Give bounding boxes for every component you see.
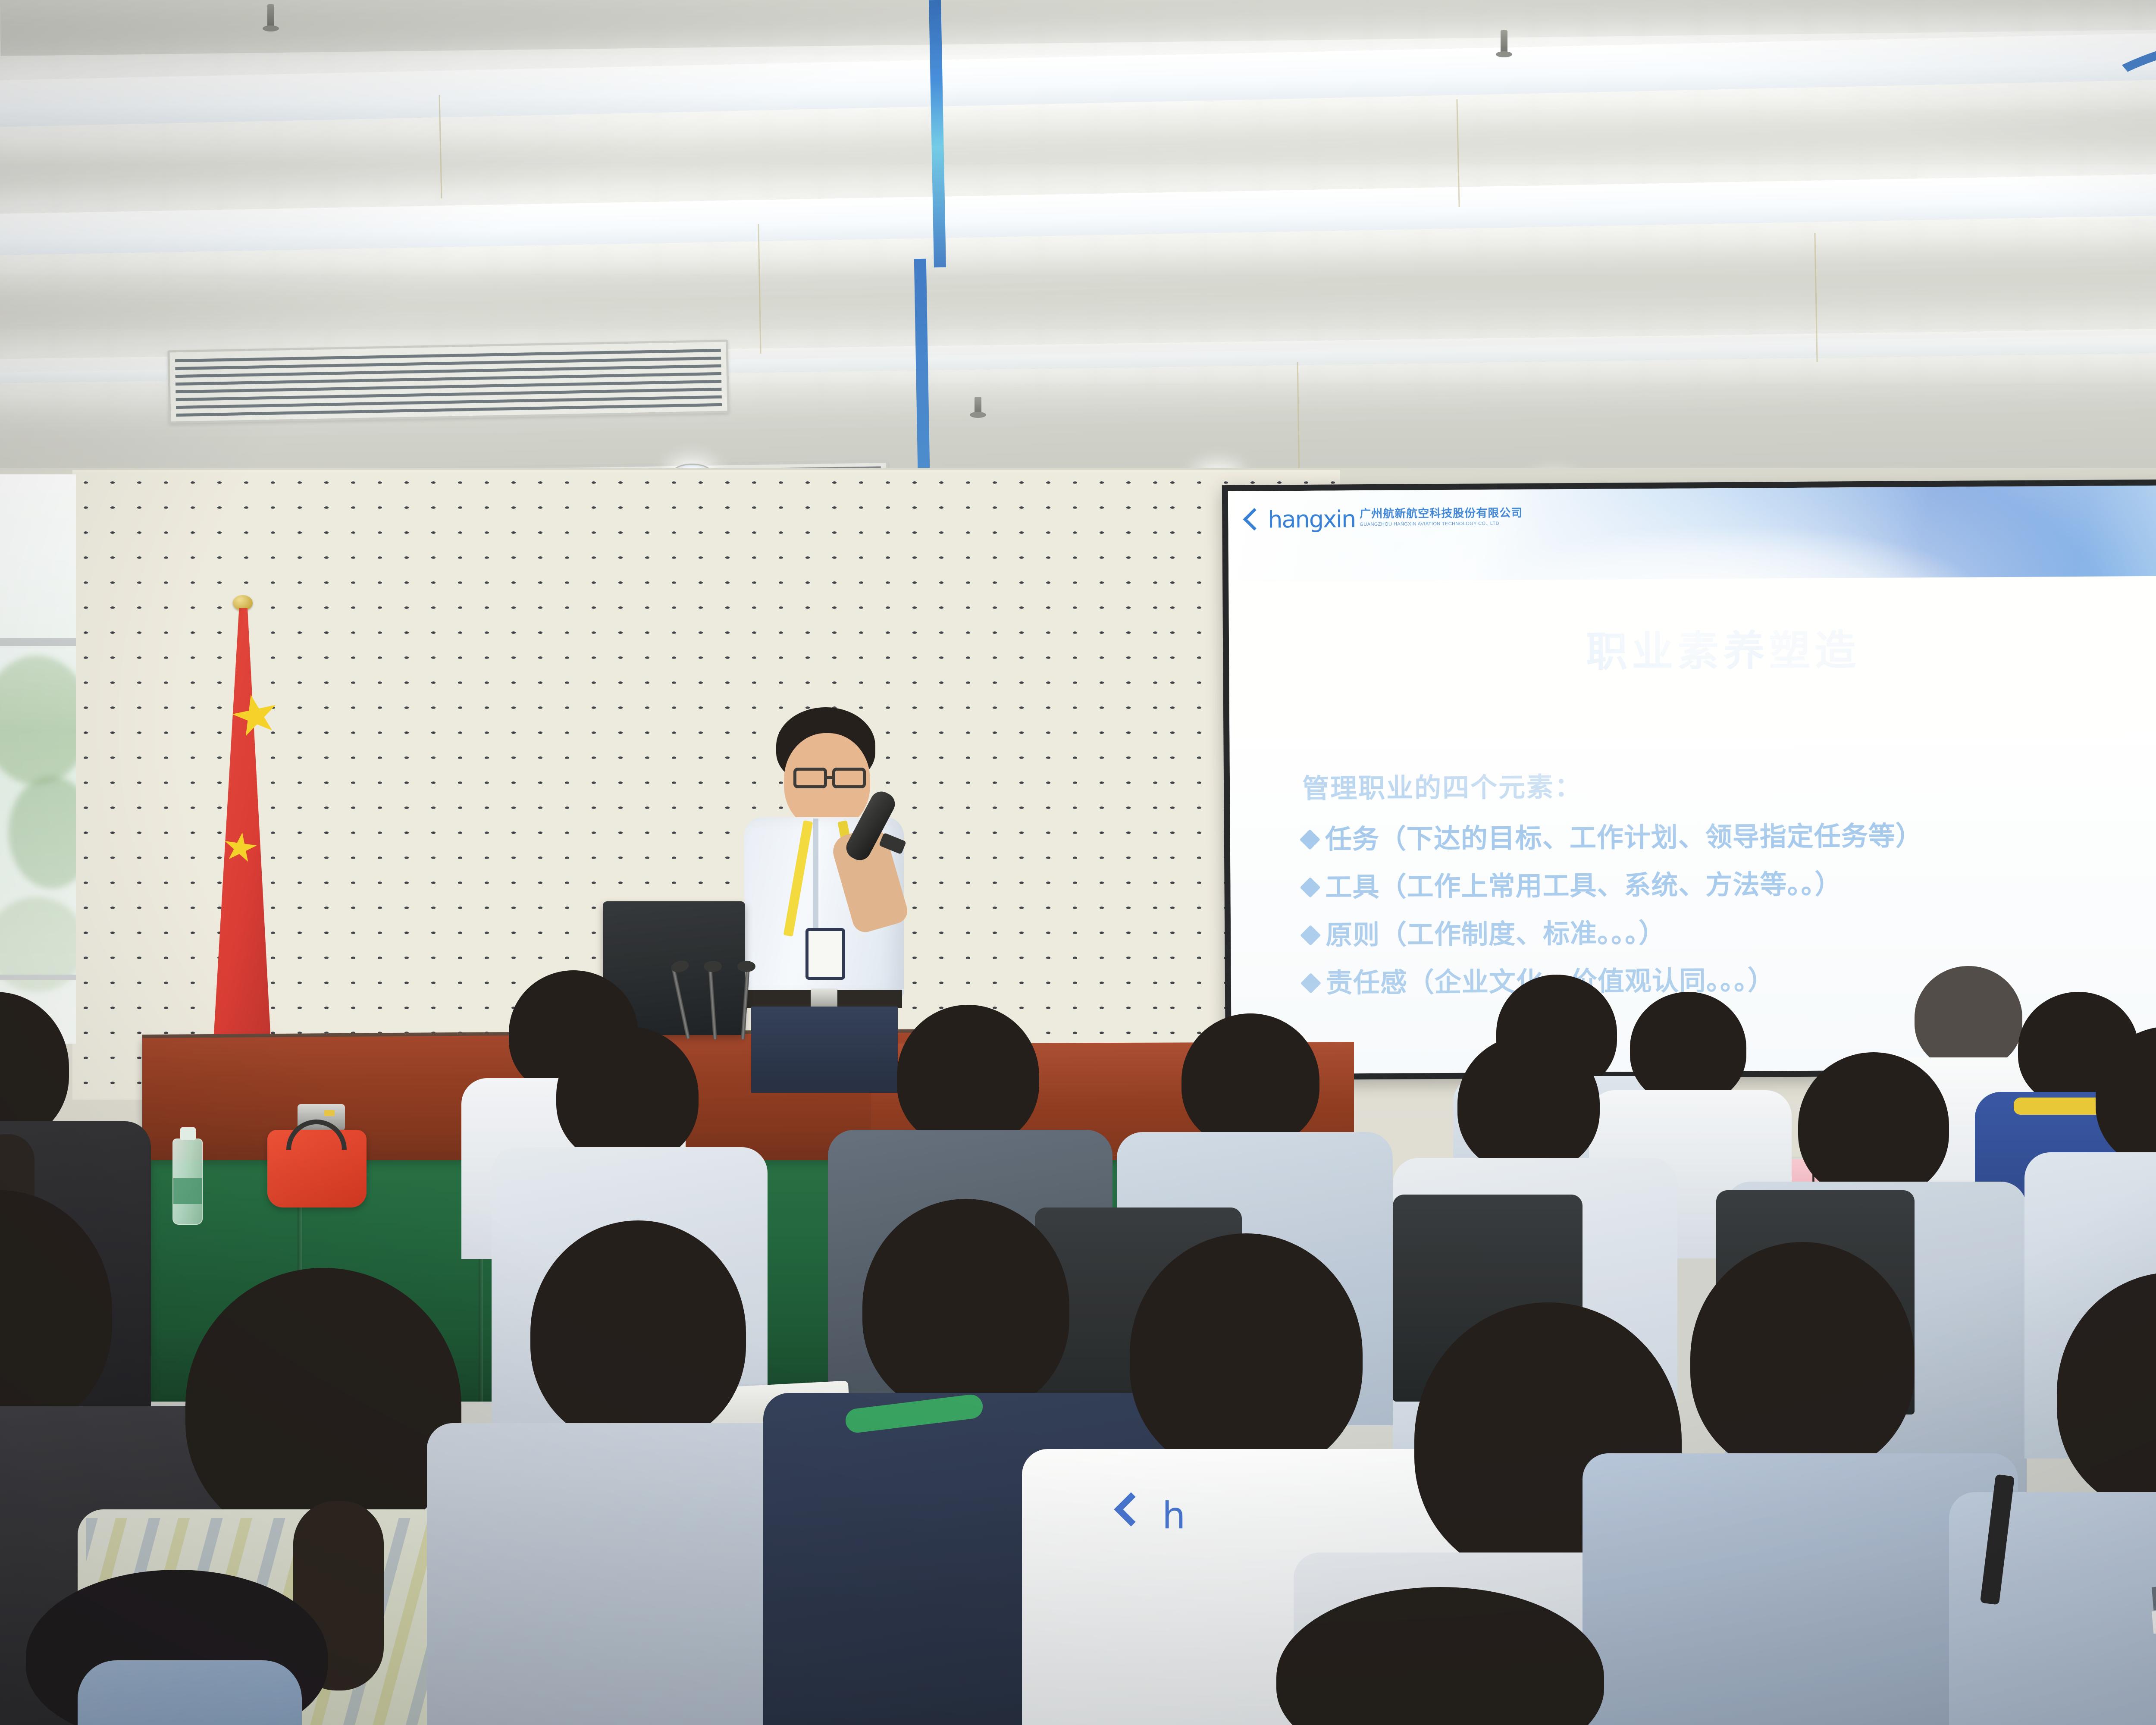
slide-title: 职业素养塑造 bbox=[1229, 615, 2156, 681]
slide-bullet: 工具（工作上常用工具、系统、方法等。。） bbox=[1303, 866, 2156, 905]
slide-lead-text: 管理职业的四个元素： bbox=[1302, 762, 2156, 806]
logo-wordmark: hangxin bbox=[1268, 510, 1355, 530]
logo-company-names: 广州航新航空科技股份有限公司 GUANGZHOU HANGXIN AVIATIO… bbox=[1360, 504, 1523, 529]
slide-title-faded: 塑造 bbox=[1769, 627, 1861, 674]
tshirt-logo-text: h bbox=[1162, 1494, 1186, 1537]
hvac-grille-left bbox=[167, 340, 729, 424]
slide-bullet-text: 原则（工作制度、标准。。。） bbox=[1326, 917, 1666, 953]
gooseneck-microphone-head bbox=[704, 961, 722, 972]
presenter bbox=[729, 707, 910, 1052]
diamond-bullet-icon bbox=[1300, 829, 1320, 850]
slide-bullet-text: 任务（下达的目标、工作计划、领导指定任务等） bbox=[1325, 820, 1923, 856]
chevron-logo-icon bbox=[1244, 510, 1263, 530]
water-bottle bbox=[172, 1138, 203, 1225]
diamond-bullet-icon bbox=[1300, 972, 1321, 993]
eyeglasses-right-lens bbox=[832, 768, 866, 788]
diamond-bullet-icon bbox=[1300, 877, 1320, 898]
seminar-photo-scene: hangxin 广州航新航空科技股份有限公司 GUANGZHOU HANGXIN… bbox=[0, 0, 2156, 1725]
gooseneck-microphone-head bbox=[737, 961, 755, 972]
red-bag bbox=[267, 1130, 367, 1207]
audience-shoulder bbox=[78, 1660, 302, 1725]
logo-company-cn: 广州航新航空科技股份有限公司 bbox=[1360, 504, 1523, 521]
presenter-badge bbox=[805, 928, 845, 980]
tshirt-chevron-logo-icon bbox=[1115, 1492, 1153, 1531]
presentation-slide: hangxin 广州航新航空科技股份有限公司 GUANGZHOU HANGXIN… bbox=[1228, 485, 2156, 1074]
projection-screen-frame: hangxin 广州航新航空科技股份有限公司 GUANGZHOU HANGXIN… bbox=[1222, 479, 2156, 1080]
slide-body: 管理职业的四个元素： 任务（下达的目标、工作计划、领导指定任务等） 工具（工作上… bbox=[1302, 762, 2156, 1015]
sprinkler-head bbox=[1501, 30, 1507, 53]
projection-screen: hangxin 广州航新航空科技股份有限公司 GUANGZHOU HANGXIN… bbox=[1228, 485, 2156, 1074]
diamond-bullet-icon bbox=[1300, 925, 1321, 946]
eyeglasses-bridge bbox=[825, 776, 835, 779]
sprinkler-head bbox=[267, 4, 274, 28]
company-logo: hangxin 广州航新航空科技股份有限公司 GUANGZHOU HANGXIN… bbox=[1244, 504, 1523, 530]
slide-bullet: 原则（工作制度、标准。。。） bbox=[1303, 914, 2156, 953]
slide-bullet: 责任感（企业文化、价值观认同。。。） bbox=[1304, 962, 2156, 1000]
belt-buckle bbox=[811, 988, 837, 1009]
eyeglasses-left-lens bbox=[793, 768, 827, 788]
flag-cloth bbox=[211, 608, 272, 1057]
logo-company-en: GUANGZHOU HANGXIN AVIATION TECHNOLOGY CO… bbox=[1360, 521, 1523, 527]
chinese-flag bbox=[185, 608, 298, 1061]
slide-header-band bbox=[1228, 485, 2156, 582]
ceiling bbox=[0, 0, 2156, 500]
slide-bullet-text: 工具（工作上常用工具、系统、方法等。。） bbox=[1325, 868, 1842, 904]
slide-bullet: 任务（下达的目标、工作计划、领导指定任务等） bbox=[1303, 819, 2156, 857]
sprinkler-head bbox=[975, 397, 981, 414]
slide-title-main: 职业素养 bbox=[1586, 628, 1769, 675]
window-left bbox=[0, 474, 76, 1044]
presenter-trousers bbox=[751, 1007, 898, 1093]
